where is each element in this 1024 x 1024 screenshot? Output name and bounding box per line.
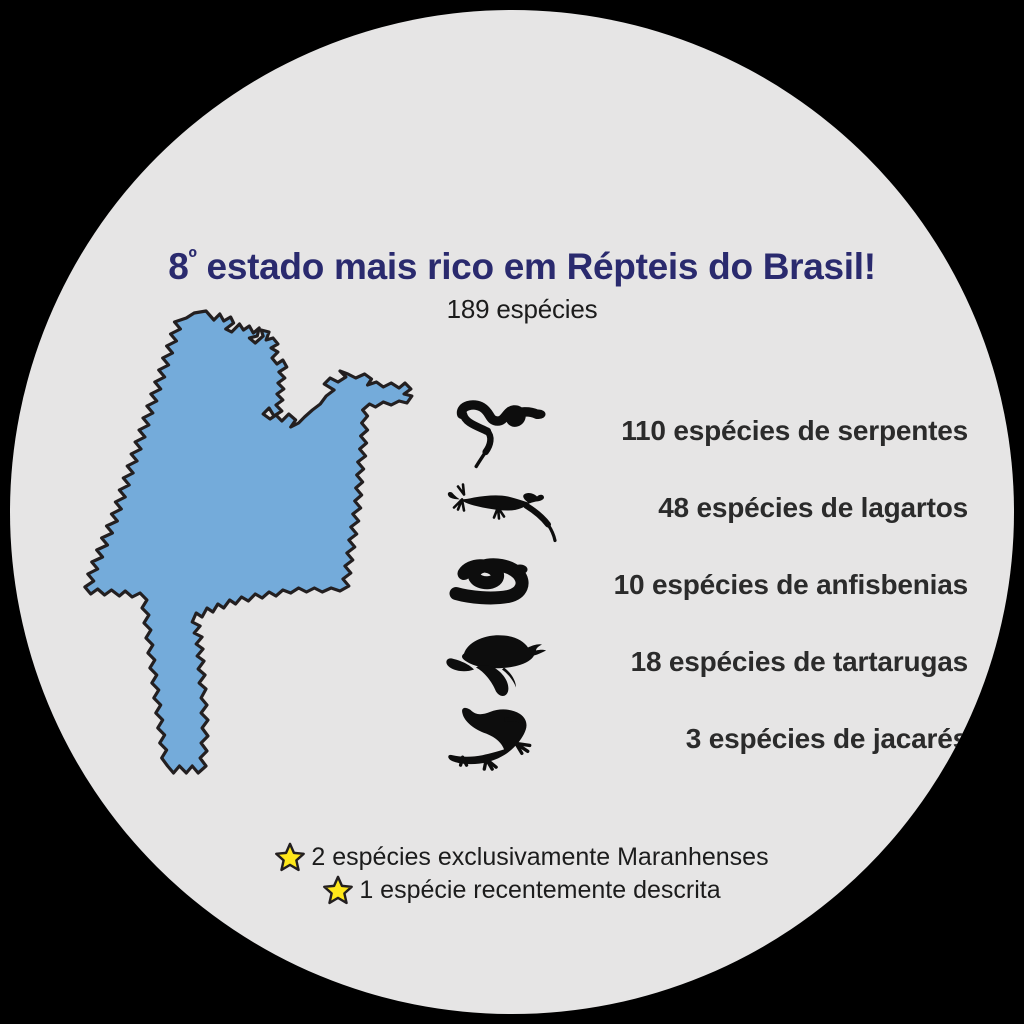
species-label-tartarugas: 18 espécies de tartarugas [631,623,968,700]
circular-backdrop: 8º estado mais rico em Répteis do Brasil… [10,10,1014,1014]
species-label-serpentes: 110 espécies de serpentes [621,392,968,469]
infographic-poster: 8º estado mais rico em Répteis do Brasil… [0,0,1024,1024]
note-exclusive-text: 2 espécies exclusivamente Maranhenses [311,842,768,873]
species-breakdown-list: 110 espécies de serpentes [442,392,982,777]
species-label-jacares: 3 espécies de jacarés [686,700,968,777]
species-row-tartarugas: 18 espécies de tartarugas [442,623,982,700]
star-icon [323,875,353,905]
turtle-icon [442,623,572,700]
species-label-lagartos: 48 espécies de lagartos [658,469,968,546]
title-rank-number: 8 [168,246,188,287]
lizard-icon [442,469,572,546]
maranhao-outline-path [85,311,412,773]
note-recent-species: 1 espécie recentemente descrita [10,875,1014,906]
species-row-serpentes: 110 espécies de serpentes [442,392,982,469]
note-recent-text: 1 espécie recentemente descrita [359,875,720,906]
footer-notes: 2 espécies exclusivamente Maranhenses 1 … [10,842,1014,905]
snake-icon [442,392,572,469]
amphisbaenia-icon [442,546,572,623]
caiman-icon [442,700,572,777]
species-row-anfisbenias: 10 espécies de anfisbenias [442,546,982,623]
species-label-anfisbenias: 10 espécies de anfisbenias [614,546,968,623]
species-row-jacares: 3 espécies de jacarés [442,700,982,777]
title-degree-symbol: º [189,245,197,271]
star-icon [275,842,305,872]
note-exclusive-species: 2 espécies exclusivamente Maranhenses [10,842,1014,873]
title-rest-text: estado mais rico em Répteis do Brasil! [197,246,876,287]
maranhao-state-map [70,282,430,802]
species-row-lagartos: 48 espécies de lagartos [442,469,982,546]
